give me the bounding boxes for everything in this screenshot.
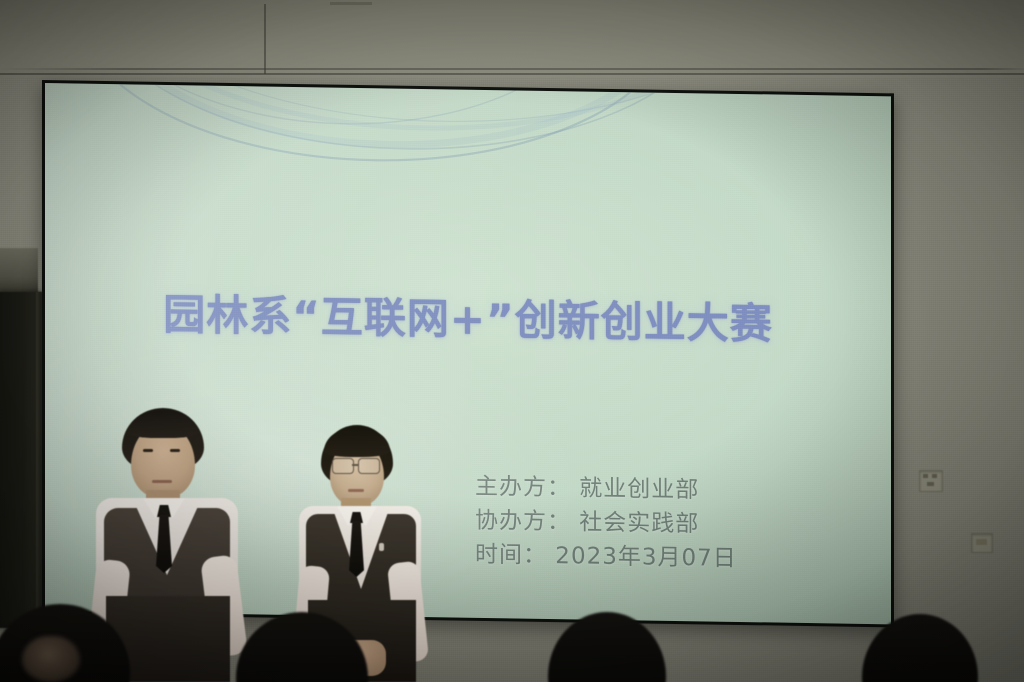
audience-face-1 [22, 636, 80, 682]
cabinet-top-cap [0, 248, 38, 296]
credit-line-date: 时间： 2023年3月07日 [475, 538, 737, 576]
slide-title: 园林系“互联网+”创新创业大赛 [45, 279, 891, 353]
presenter-left-mouth [152, 480, 172, 483]
power-outlet [919, 470, 943, 492]
presenter-left-eye-left [143, 449, 153, 452]
wall-plate [971, 533, 993, 553]
swirl-arcs-decoration [45, 83, 891, 256]
presenter-right-glasses-right [358, 458, 380, 474]
ceiling-shadow [0, 0, 1024, 78]
ceiling-seam [0, 68, 1024, 70]
ceiling-fitting [330, 2, 372, 5]
classroom-photo: 园林系“互联网+”创新创业大赛 主办方： 就业创业部 协办方： 社会实践部 时间… [0, 0, 1024, 682]
presenter-right-badge [379, 543, 384, 551]
ceiling-wire [0, 73, 1024, 75]
wall-bracket [264, 4, 266, 74]
credit-line-organizer: 主办方： 就业创业部 [475, 470, 737, 508]
presenter-left-eye-right [170, 449, 180, 452]
presenter-right-glasses-left [332, 458, 354, 474]
presenter-right-glasses-bridge [352, 464, 359, 466]
presenter-right-mouth [348, 489, 364, 492]
slide-credits: 主办方： 就业创业部 协办方： 社会实践部 时间： 2023年3月07日 [475, 470, 737, 576]
credit-line-coorganizer: 协办方： 社会实践部 [475, 504, 737, 542]
